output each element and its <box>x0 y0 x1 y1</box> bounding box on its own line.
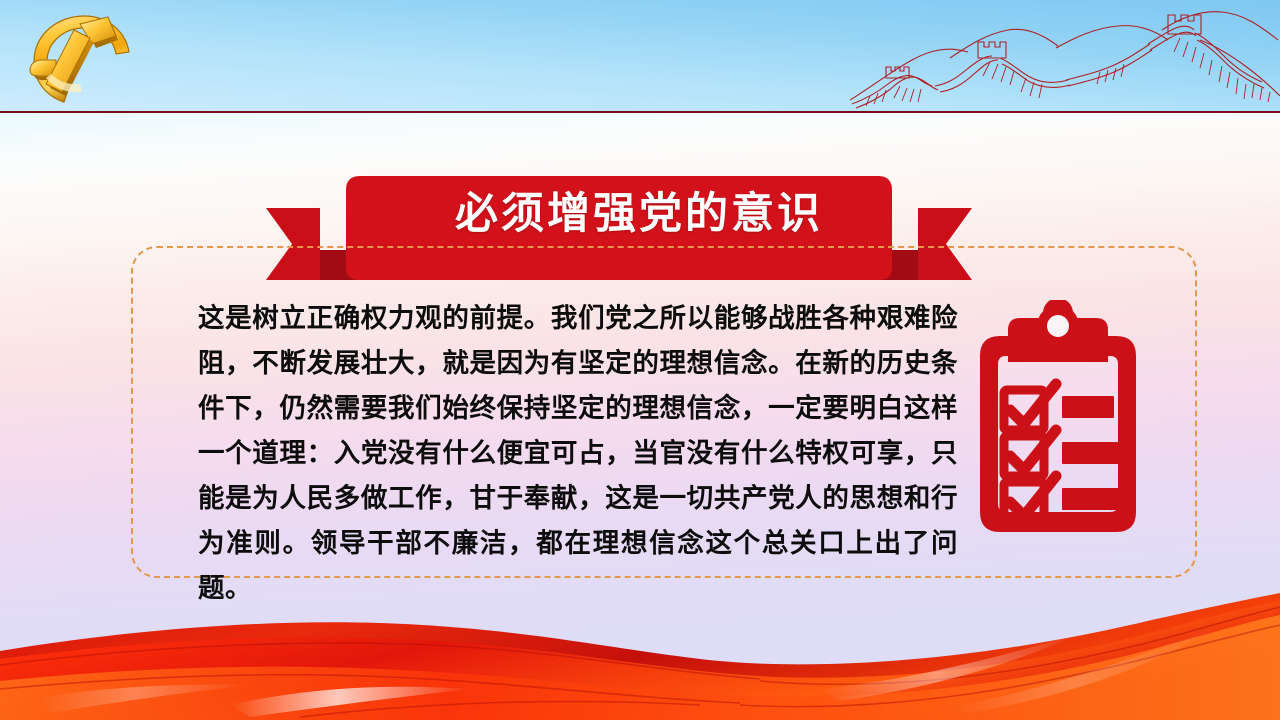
slide-canvas: 必须增强党的意识 这是树立正确权力观的前提。我们党之所以能够战胜各种艰难险阻，不… <box>0 0 1280 720</box>
red-silk-ribbon-icon <box>0 585 1280 720</box>
body-paragraph: 这是树立正确权力观的前提。我们党之所以能够战胜各种艰难险阻，不断发展壮大，就是因… <box>198 296 958 611</box>
great-wall-icon <box>850 0 1280 113</box>
header-band <box>0 0 1280 113</box>
party-emblem-hammer-sickle-icon <box>16 4 146 108</box>
header-divider <box>0 111 1280 113</box>
clipboard-checklist-icon <box>958 300 1158 532</box>
